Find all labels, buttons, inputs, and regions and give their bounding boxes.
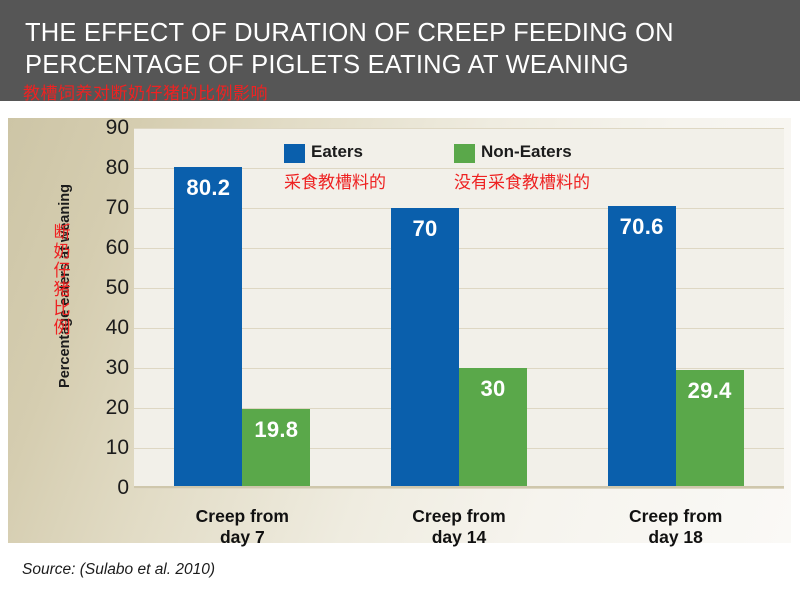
x-axis-category-line: day 14 (351, 527, 568, 548)
source-citation: Source: (Sulabo et al. 2010) (22, 561, 215, 579)
slide-root: THE EFFECT OF DURATION OF CREEP FEEDING … (0, 0, 800, 607)
y-axis-tick-label: 90 (89, 117, 129, 138)
slide-title-line-2: PERCENTAGE OF PIGLETS EATING AT WEANING (25, 51, 629, 80)
x-axis-category-label: Creep fromday 18 (567, 506, 784, 548)
x-axis-category-line: day 18 (567, 527, 784, 548)
x-axis-category-line: Creep from (134, 506, 351, 527)
legend-label-eaters-chinese: 采食教槽料的 (284, 168, 386, 193)
bar-value-label: 70 (391, 216, 459, 242)
bar-value-label: 19.8 (242, 417, 310, 443)
bar-non-eaters: 30 (459, 368, 527, 488)
chart-legend: Eaters 采食教槽料的 Non-Eaters 没有采食教槽料的 (284, 142, 714, 198)
bar-value-label: 30 (459, 376, 527, 402)
bar-non-eaters: 29.4 (676, 370, 744, 488)
x-axis-category-line: Creep from (351, 506, 568, 527)
bar-eaters: 70 (391, 208, 459, 488)
y-axis-tick-label: 20 (89, 397, 129, 418)
y-axis-tick-label: 0 (89, 477, 129, 498)
legend-swatch-eaters-icon (284, 144, 305, 163)
y-axis-tick-label: 40 (89, 317, 129, 338)
plot-area: 80.219.8703070.629.4 Eaters 采食教槽料的 Non-E… (134, 128, 784, 488)
legend-label-eaters: Eaters (311, 142, 363, 162)
bar-eaters: 70.6 (608, 206, 676, 488)
y-axis-tick-label: 10 (89, 437, 129, 458)
bar-value-label: 29.4 (676, 378, 744, 404)
slide-title-line-1: THE EFFECT OF DURATION OF CREEP FEEDING … (25, 19, 674, 48)
y-axis-tick-label: 80 (89, 157, 129, 178)
bar-eaters: 80.2 (174, 167, 242, 488)
x-axis-line (134, 486, 784, 488)
y-axis-tick-label: 50 (89, 277, 129, 298)
x-axis-category-label: Creep fromday 7 (134, 506, 351, 548)
x-axis-category-line: day 7 (134, 527, 351, 548)
legend-swatch-non-eaters-icon (454, 144, 475, 163)
x-axis-category-line: Creep from (567, 506, 784, 527)
gridline (134, 128, 784, 129)
x-axis-category-label: Creep fromday 14 (351, 506, 568, 548)
legend-label-non-eaters: Non-Eaters (481, 142, 572, 162)
y-axis-tick-label: 60 (89, 237, 129, 258)
y-axis-tick-label: 30 (89, 357, 129, 378)
slide-header: THE EFFECT OF DURATION OF CREEP FEEDING … (0, 0, 800, 101)
slide-title-chinese: 教槽饲养对断奶仔猪的比例影响 (23, 79, 268, 104)
y-axis-tick-label: 70 (89, 197, 129, 218)
bar-value-label: 80.2 (174, 175, 242, 201)
bar-value-label: 70.6 (608, 214, 676, 240)
bar-non-eaters: 19.8 (242, 409, 310, 488)
legend-label-non-eaters-chinese: 没有采食教槽料的 (454, 168, 590, 193)
y-axis-label-chinese: 断奶仔猪比例 (52, 224, 72, 338)
chart-panel: Percentage eaters at weaning 断奶仔猪比例 0102… (8, 118, 791, 543)
